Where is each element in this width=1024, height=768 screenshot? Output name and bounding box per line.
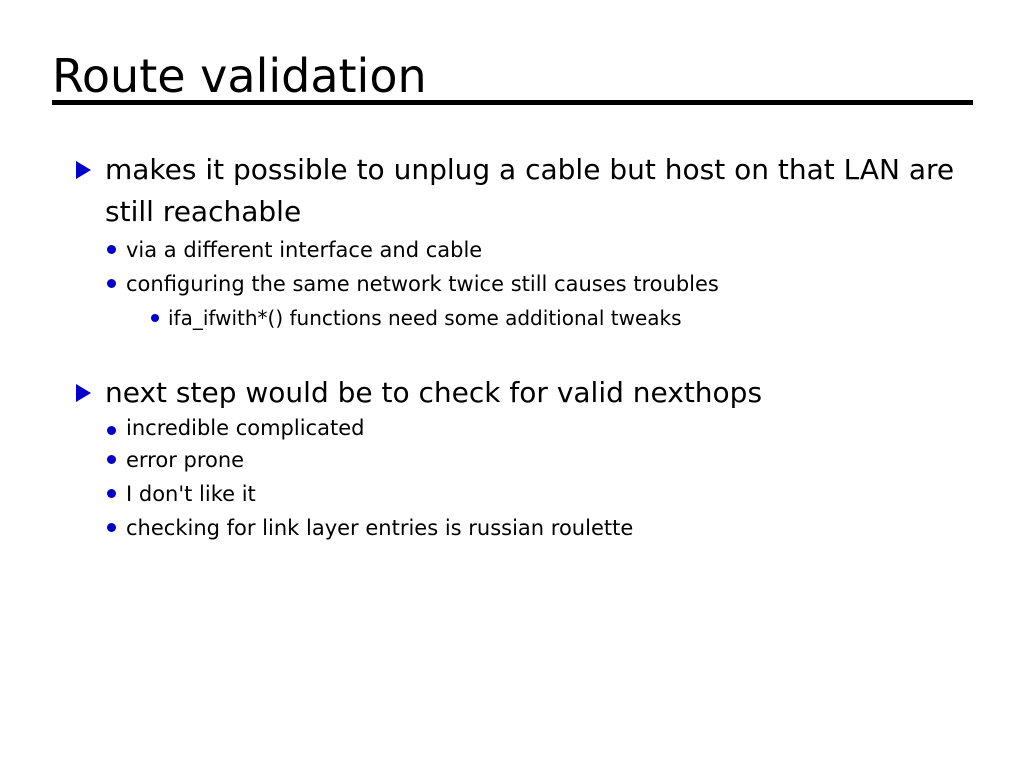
bullet-level2: via a different interface and cable <box>0 233 1024 267</box>
bullet-level1: next step would be to check for valid ne… <box>0 372 1024 414</box>
bullet-level3-label: ifa_ifwith*() functions need some additi… <box>168 301 984 335</box>
bullet-level2-label: checking for link layer entries is russi… <box>126 511 984 545</box>
blue-dot-bullet-icon <box>107 455 116 464</box>
blue-small-dot-bullet-icon <box>151 314 159 322</box>
bullet-level2-label: via a different interface and cable <box>126 233 984 267</box>
bullet-level2: error prone <box>0 443 1024 477</box>
blue-triangle-bullet-icon <box>76 384 91 402</box>
title-underline-rule <box>52 100 973 105</box>
blue-triangle-bullet-icon <box>76 161 91 179</box>
slide-body: makes it possible to unplug a cable but … <box>0 149 1024 545</box>
bullet-level1-label: makes it possible to unplug a cable but … <box>105 149 964 233</box>
page-title: Route validation <box>52 48 973 104</box>
bullet-level1: makes it possible to unplug a cable but … <box>0 149 1024 233</box>
bullet-level2-label: error prone <box>126 443 984 477</box>
bullet-level2: checking for link layer entries is russi… <box>0 511 1024 545</box>
bullet-level2-label: incredible complicated <box>126 414 984 443</box>
bullet-level1-label: next step would be to check for valid ne… <box>105 372 964 414</box>
blue-dot-bullet-icon <box>107 245 116 254</box>
bullet-level2: incredible complicated <box>0 414 1024 443</box>
title-block: Route validation <box>52 48 973 104</box>
bullet-level2: configuring the same network twice still… <box>0 267 1024 301</box>
bullet-level2: I don't like it <box>0 477 1024 511</box>
blue-dot-bullet-icon <box>107 426 116 435</box>
presentation-slide: Route validation makes it possible to un… <box>0 0 1024 768</box>
blue-dot-bullet-icon <box>107 523 116 532</box>
blue-dot-bullet-icon <box>107 279 116 288</box>
bullet-level2-label: configuring the same network twice still… <box>126 267 984 301</box>
bullet-level2-label: I don't like it <box>126 477 984 511</box>
group-spacer <box>0 335 1024 372</box>
bullet-level3: ifa_ifwith*() functions need some additi… <box>0 301 1024 335</box>
blue-dot-bullet-icon <box>107 489 116 498</box>
